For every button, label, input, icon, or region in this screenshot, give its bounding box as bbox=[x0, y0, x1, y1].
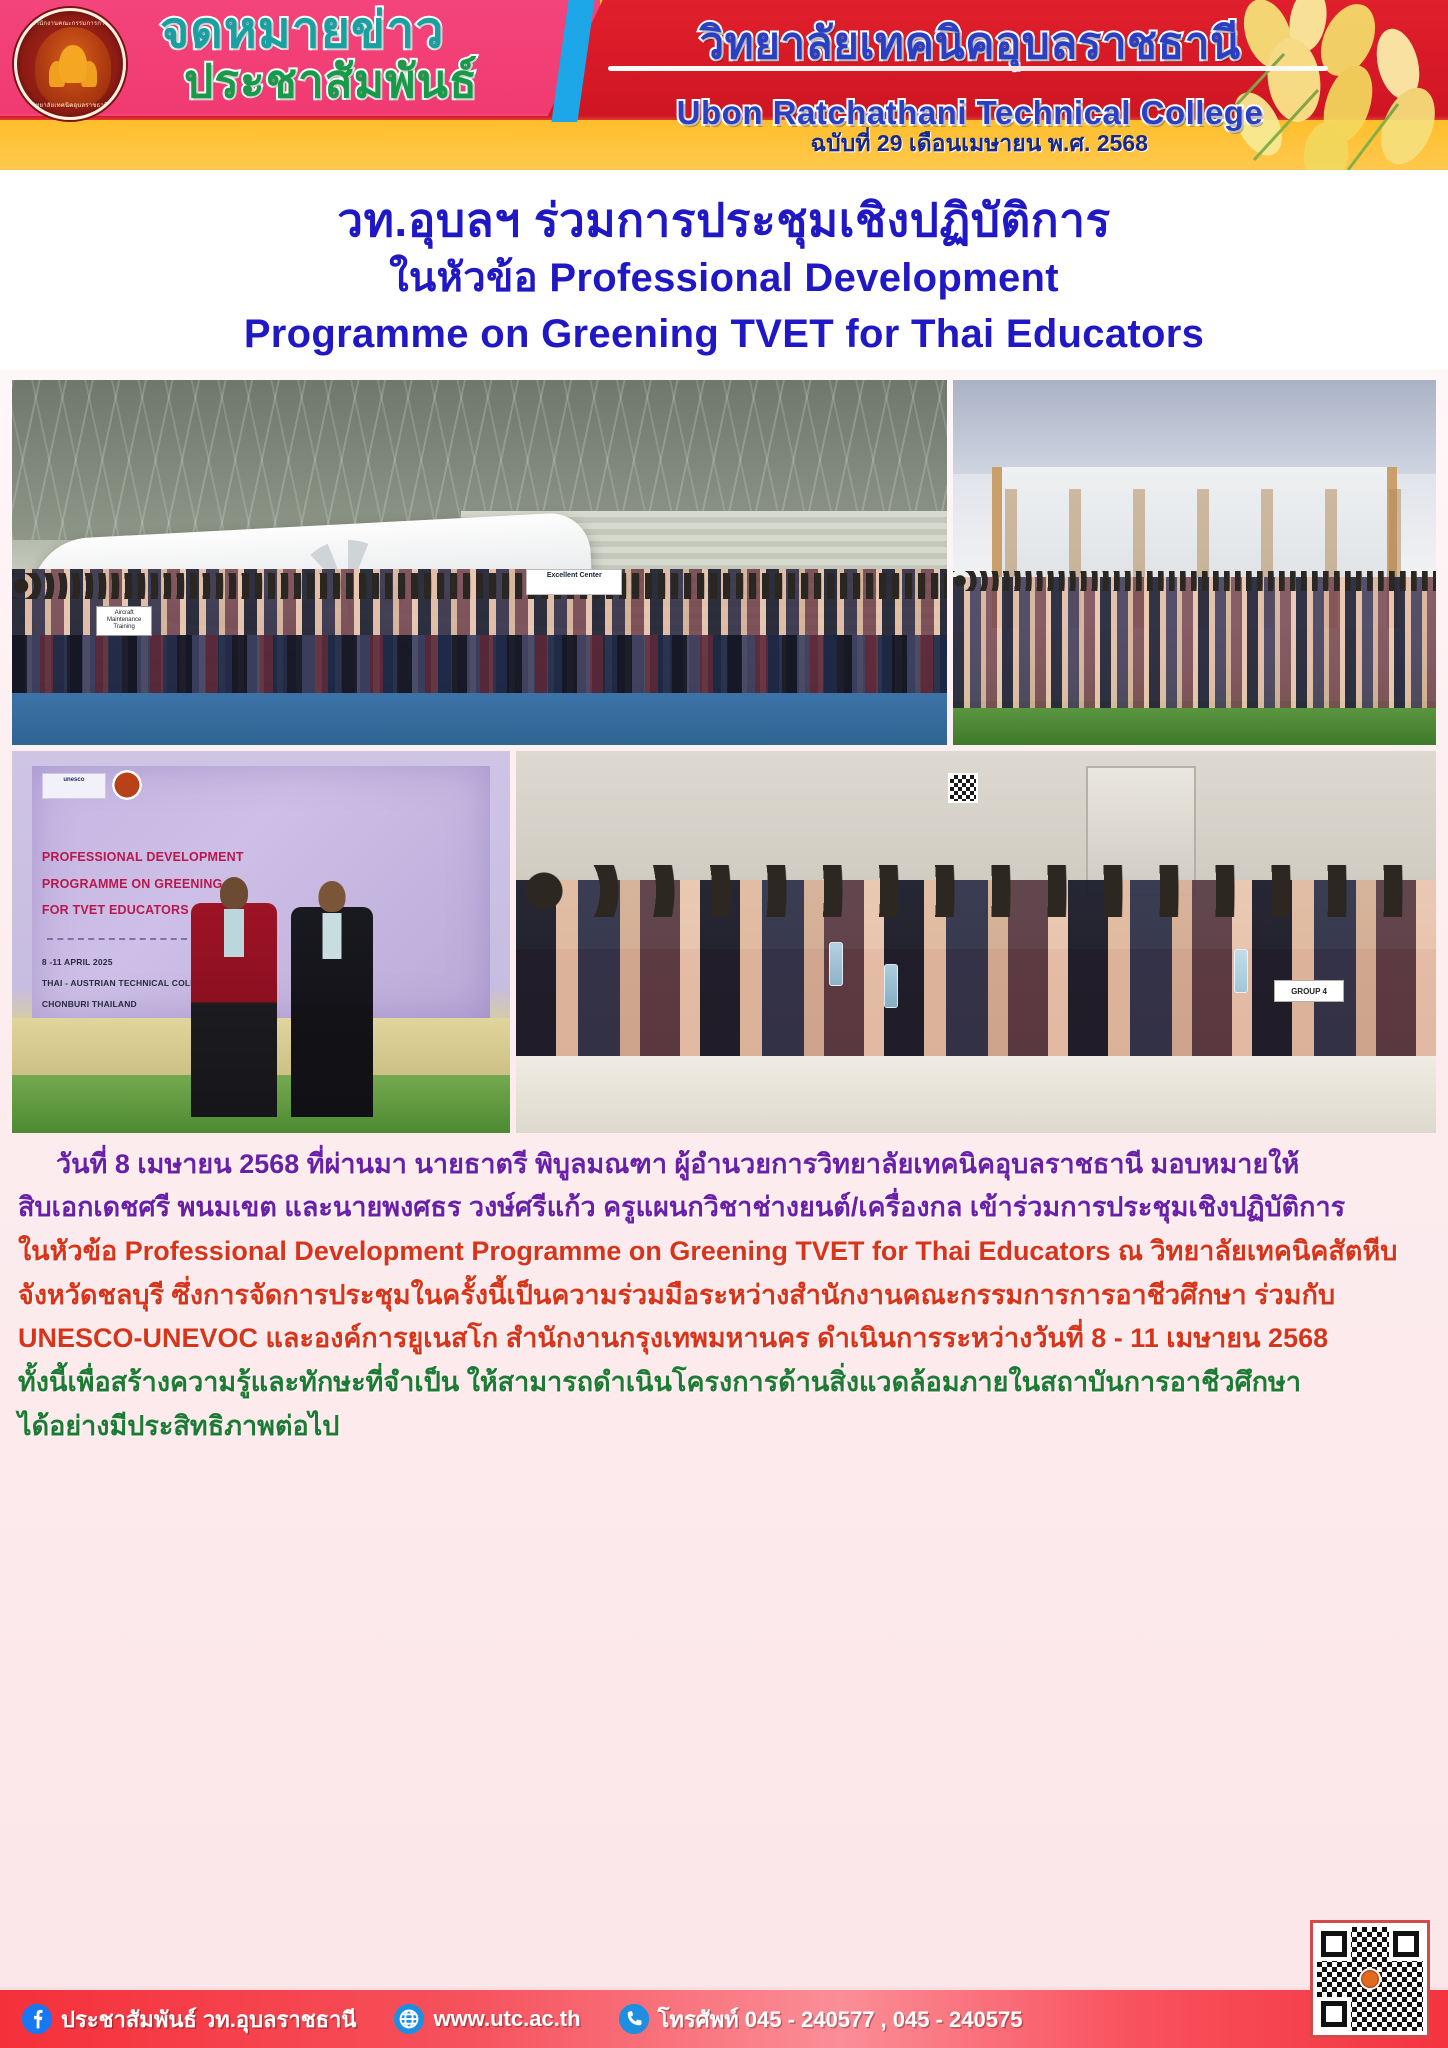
title-line-3: Programme on Greening TVET for Thai Educ… bbox=[30, 308, 1418, 360]
footer-website[interactable]: www.utc.ac.th bbox=[394, 2004, 580, 2034]
seal-text-bottom: วิทยาลัยเทคนิคอุบลราชธานี bbox=[17, 100, 123, 110]
body-line: สิบเอกเดชศรี พนมเขต และนายพงศธร วงษ์ศรีแ… bbox=[18, 1186, 1430, 1230]
slide-heading-3: FOR TVET EDUCATORS bbox=[42, 903, 189, 917]
page-title: วท.อุบลฯ ร่วมการประชุมเชิงปฏิบัติการ ในห… bbox=[0, 170, 1448, 370]
phone-label: โทรศัพท์ 045 - 240577 , 045 - 240575 bbox=[658, 2002, 1023, 2037]
slide-detail-location: CHONBURI THAILAND bbox=[42, 999, 137, 1009]
qr-center-logo-icon bbox=[1359, 1968, 1381, 1990]
banner-thai-title: จดหมายข่าว ประชาสัมพันธ์ bbox=[160, 6, 478, 104]
body-line: ในหัวข้อ Professional Development Progra… bbox=[18, 1230, 1430, 1274]
article-body: วันที่ 8 เมษายน 2568 ที่ผ่านมา นายธาตรี … bbox=[18, 1143, 1430, 1449]
photo-presentation-slide: unesco PROFESSIONAL DEVELOPMENT PROGRAMM… bbox=[12, 751, 510, 1133]
table-group-card: GROUP 4 bbox=[1274, 980, 1344, 1002]
unesco-logo-icon: unesco bbox=[42, 773, 106, 799]
photo-row-1: Excellent Center Aircraft Maintenance Tr… bbox=[12, 380, 1436, 745]
footer-facebook[interactable]: ประชาสัมพันธ์ วท.อุบลราชธานี bbox=[22, 2002, 356, 2037]
globe-icon bbox=[394, 2004, 424, 2034]
hangar-sign-label: Excellent Center bbox=[526, 569, 622, 595]
facebook-label: ประชาสัมพันธ์ วท.อุบลราชธานี bbox=[61, 2002, 356, 2037]
qr-finder-top-right bbox=[1393, 1931, 1419, 1957]
title-line-1: วท.อุบลฯ ร่วมการประชุมเชิงปฏิบัติการ bbox=[30, 192, 1418, 250]
seal-inner bbox=[35, 27, 111, 107]
banner-divider-rule bbox=[608, 66, 1328, 71]
person-red-jacket bbox=[191, 903, 277, 1117]
slide-heading-2: PROGRAMME ON GREENING bbox=[42, 877, 223, 891]
aircraft-training-tag: Aircraft Maintenance Training bbox=[96, 606, 152, 636]
photo-grid: Excellent Center Aircraft Maintenance Tr… bbox=[12, 380, 1436, 1133]
college-seal-icon: สำนักงานคณะกรรมการการอาชีวศึกษา วิทยาลัย… bbox=[14, 8, 126, 120]
body-line: ได้อย่างมีประสิทธิภาพต่อไป bbox=[18, 1405, 1430, 1449]
slide-detail-date: 8 -11 APRIL 2025 bbox=[42, 957, 113, 967]
qr-finder-top-left bbox=[1321, 1931, 1347, 1957]
person-black-suit bbox=[291, 907, 373, 1117]
footer-phone[interactable]: โทรศัพท์ 045 - 240577 , 045 - 240575 bbox=[619, 2002, 1023, 2037]
photo-row-2: unesco PROFESSIONAL DEVELOPMENT PROGRAMM… bbox=[12, 751, 1436, 1133]
title-line-2: ในหัวข้อ Professional Development bbox=[30, 252, 1418, 304]
header-banner: สำนักงานคณะกรรมการการอาชีวศึกษา วิทยาลัย… bbox=[0, 0, 1448, 170]
body-line: จังหวัดชลบุรี ซึ่งการจัดการประชุมในครั้ง… bbox=[18, 1274, 1430, 1318]
photo-aircraft-hangar-group: Excellent Center Aircraft Maintenance Tr… bbox=[12, 380, 947, 745]
banner-thai-line2: ประชาสัมพันธ์ bbox=[184, 59, 478, 104]
website-label: www.utc.ac.th bbox=[433, 2006, 580, 2032]
issue-line: ฉบับที่ 29 เดือนเมษายน พ.ศ. 2568 bbox=[810, 126, 1148, 162]
facebook-icon bbox=[22, 2004, 52, 2034]
college-seal-small-icon bbox=[112, 770, 142, 800]
body-line: UNESCO-UNEVOC และองค์การยูเนสโก สำนักงาน… bbox=[18, 1317, 1430, 1361]
slide-heading-1: PROFESSIONAL DEVELOPMENT bbox=[42, 850, 244, 864]
photo-corridor-group bbox=[953, 380, 1436, 745]
footer-bar: ประชาสัมพันธ์ วท.อุบลราชธานี www.utc.ac.… bbox=[0, 1990, 1448, 2048]
phone-icon bbox=[619, 2004, 649, 2034]
newsletter-page: สำนักงานคณะกรรมการการอาชีวศึกษา วิทยาลัย… bbox=[0, 0, 1448, 2048]
seal-figure bbox=[59, 45, 86, 83]
photo-meeting-room: GROUP 4 bbox=[516, 751, 1436, 1133]
qr-code[interactable] bbox=[1310, 1920, 1430, 2038]
slide-detail-venue: THAI - AUSTRIAN TECHNICAL COLLEGE bbox=[42, 978, 214, 988]
body-line: วันที่ 8 เมษายน 2568 ที่ผ่านมา นายธาตรี … bbox=[18, 1143, 1430, 1187]
qr-finder-bottom-left bbox=[1321, 2001, 1347, 2027]
body-line: ทั้งนี้เพื่อสร้างความรู้และทักษะที่จำเป็… bbox=[18, 1361, 1430, 1405]
banner-thai-line1: จดหมายข่าว bbox=[160, 6, 478, 55]
